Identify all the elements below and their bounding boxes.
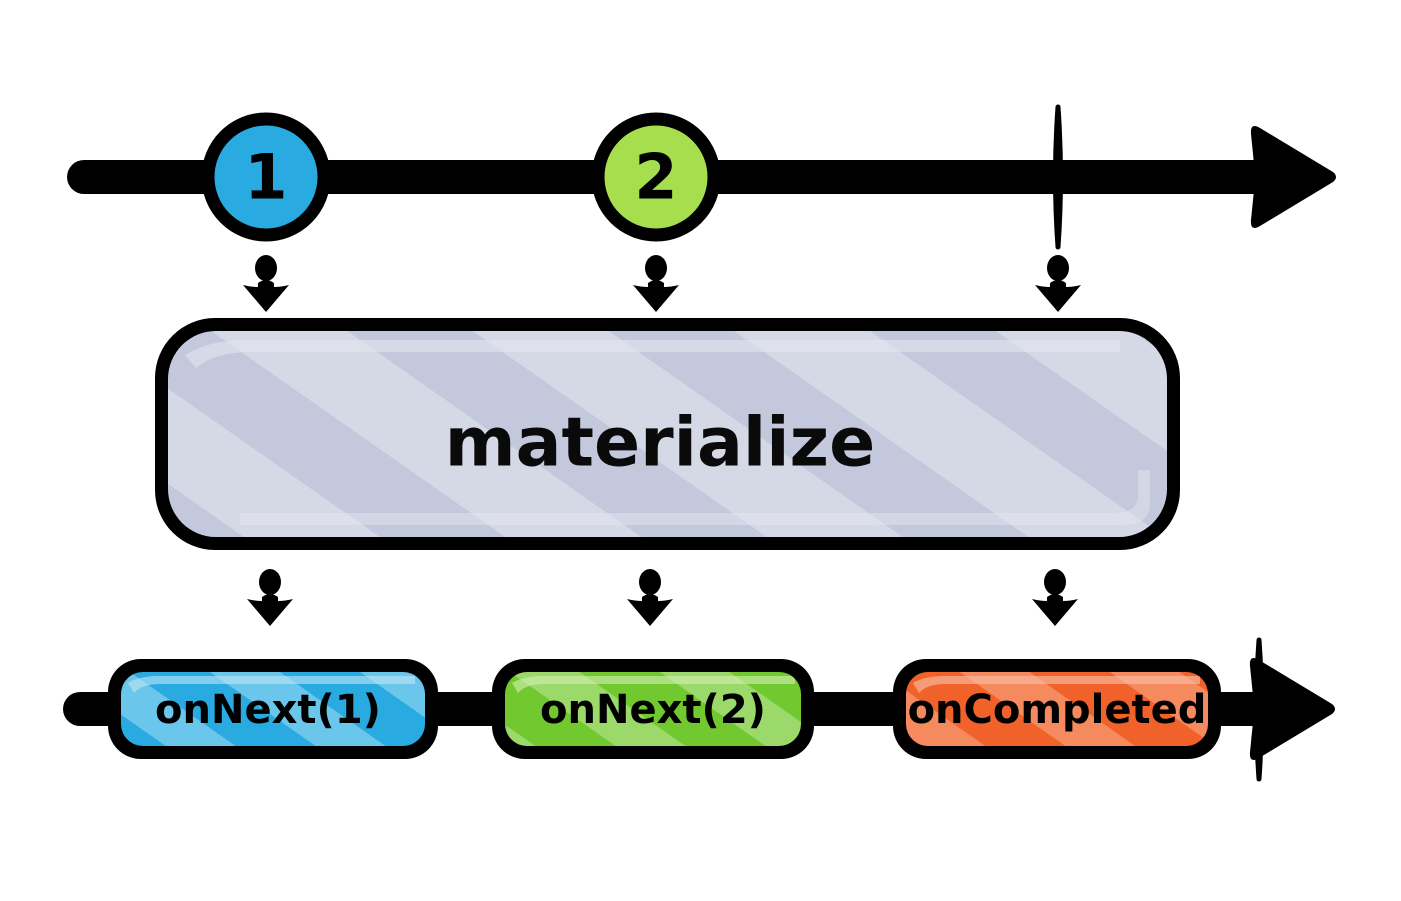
source-marble-1[interactable]: 1 — [208, 119, 324, 235]
output-notification-onnext-2[interactable]: onNext(2) — [492, 659, 814, 759]
connector-onnext-2-out — [627, 569, 673, 626]
materialize-operator-box[interactable]: materialize — [155, 318, 1180, 550]
connector-oncompleted-out — [1032, 569, 1078, 626]
output-notification-oncompleted[interactable]: onCompleted — [893, 659, 1221, 759]
connector-marble-2-in — [633, 255, 679, 312]
source-marble-2-label: 2 — [634, 141, 677, 214]
source-completion-bar — [1056, 107, 1061, 247]
operator-label: materialize — [445, 404, 875, 483]
onnext-2-label: onNext(2) — [540, 687, 766, 733]
onnext-1-label: onNext(1) — [155, 687, 381, 733]
materialize-marble-diagram: 1 2 — [0, 0, 1401, 901]
oncompleted-label: onCompleted — [908, 687, 1207, 733]
marble-diagram-canvas: 1 2 — [0, 0, 1401, 901]
source-marble-1-label: 1 — [244, 141, 287, 214]
output-timeline: onNext(1) onNext(2) onCompleted — [80, 640, 1335, 779]
source-marble-2[interactable]: 2 — [598, 119, 714, 235]
connector-complete-in — [1035, 255, 1081, 312]
source-timeline-arrowhead — [1251, 126, 1336, 228]
connector-onnext-1-out — [247, 569, 293, 626]
output-notification-onnext-1[interactable]: onNext(1) — [108, 659, 438, 759]
connector-marble-1-in — [243, 255, 289, 312]
connectors-into-operator — [243, 255, 1081, 312]
connectors-out-of-operator — [247, 569, 1078, 626]
output-completion-bar — [1257, 640, 1262, 779]
source-timeline: 1 2 — [84, 107, 1336, 247]
